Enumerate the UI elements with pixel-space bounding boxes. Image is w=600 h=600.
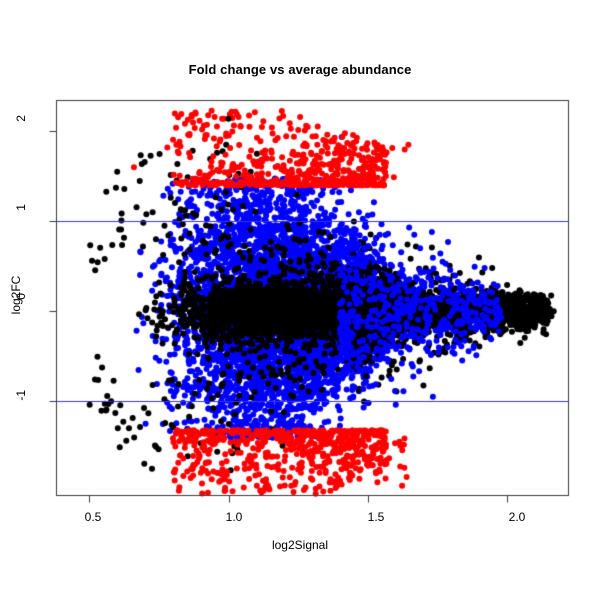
- y-tick-label-0: -1: [14, 390, 28, 420]
- x-tick-label-1: 1.0: [214, 510, 254, 524]
- x-tick-label-2: 1.5: [356, 510, 396, 524]
- chart-page: Fold change vs average abundance log2FC …: [0, 0, 600, 600]
- x-tick-label-0: 0.5: [73, 510, 113, 524]
- x-axis-label: log2Signal: [0, 538, 600, 552]
- y-tick-label-1: 0: [14, 293, 28, 323]
- y-tick-label-2: 1: [14, 204, 28, 234]
- x-tick-label-3: 2.0: [497, 510, 537, 524]
- y-tick-label-3: 2: [14, 115, 28, 145]
